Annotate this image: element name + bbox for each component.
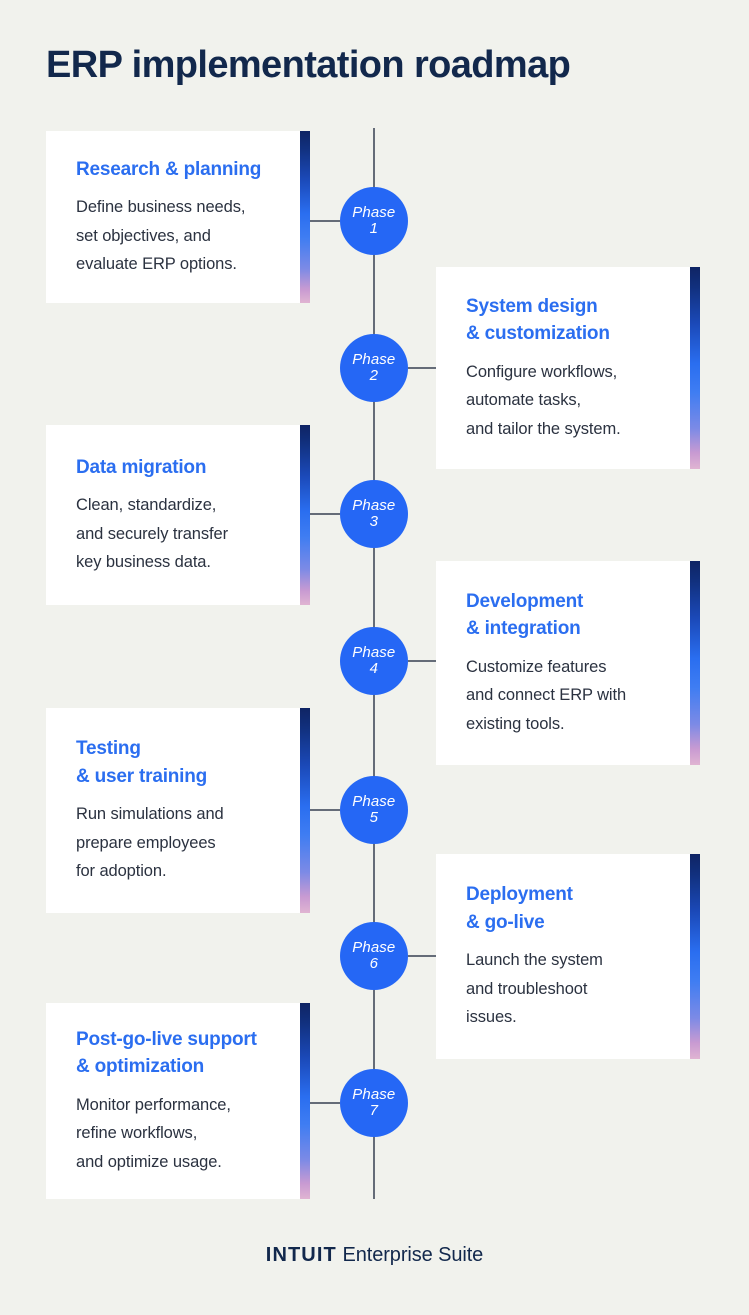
- phase-card-title: Research & planning: [76, 156, 280, 184]
- brand-wordmark: INTUIT: [266, 1244, 337, 1266]
- phase-node-number: 6: [370, 956, 378, 972]
- card-gradient-bar: [690, 854, 700, 1059]
- phase-node-3[interactable]: Phase3: [340, 480, 408, 548]
- card-gradient-bar: [300, 708, 310, 913]
- connector-line-phase-6: [408, 955, 436, 956]
- page-title: ERP implementation roadmap: [46, 44, 570, 88]
- phase-card-body: Launch the system and troubleshoot issue…: [466, 946, 670, 1031]
- phase-node-number: 3: [370, 514, 378, 530]
- connector-line-phase-1: [310, 220, 340, 221]
- phase-card-body: Monitor performance, refine workflows, a…: [76, 1091, 280, 1176]
- phase-card-title: System design & customization: [466, 293, 670, 348]
- phase-node-label: Phase: [352, 498, 395, 514]
- phase-node-6[interactable]: Phase6: [340, 922, 408, 990]
- phase-node-label: Phase: [352, 1087, 395, 1103]
- phase-node-label: Phase: [352, 940, 395, 956]
- phase-card-2[interactable]: System design & customizationConfigure w…: [436, 267, 700, 469]
- phase-node-number: 2: [370, 368, 378, 384]
- phase-node-label: Phase: [352, 205, 395, 221]
- phase-node-4[interactable]: Phase4: [340, 627, 408, 695]
- infographic-root: ERP implementation roadmap Phase1Phase2P…: [0, 0, 749, 1315]
- phase-card-body: Define business needs, set objectives, a…: [76, 193, 280, 278]
- connector-line-phase-4: [408, 660, 436, 661]
- phase-card-1[interactable]: Research & planningDefine business needs…: [46, 131, 310, 303]
- product-name: Enterprise Suite: [343, 1244, 484, 1266]
- phase-card-title: Development & integration: [466, 588, 670, 643]
- phase-card-body: Configure workflows, automate tasks, and…: [466, 358, 670, 443]
- phase-card-title: Data migration: [76, 454, 280, 482]
- card-gradient-bar: [300, 1003, 310, 1199]
- phase-card-6[interactable]: Deployment & go-liveLaunch the system an…: [436, 854, 700, 1059]
- phase-card-title: Testing & user training: [76, 735, 280, 790]
- connector-line-phase-7: [310, 1102, 340, 1103]
- phase-node-number: 7: [370, 1103, 378, 1119]
- phase-card-5[interactable]: Testing & user trainingRun simulations a…: [46, 708, 310, 913]
- phase-card-title: Post-go-live support & optimization: [76, 1026, 280, 1081]
- card-gradient-bar: [300, 425, 310, 605]
- phase-node-number: 1: [370, 221, 378, 237]
- phase-node-1[interactable]: Phase1: [340, 187, 408, 255]
- phase-node-number: 5: [370, 810, 378, 826]
- card-gradient-bar: [690, 561, 700, 765]
- phase-card-body: Customize features and connect ERP with …: [466, 653, 670, 738]
- phase-node-label: Phase: [352, 352, 395, 368]
- phase-card-3[interactable]: Data migrationClean, standardize, and se…: [46, 425, 310, 605]
- phase-node-number: 4: [370, 661, 378, 677]
- phase-node-7[interactable]: Phase7: [340, 1069, 408, 1137]
- card-gradient-bar: [300, 131, 310, 303]
- connector-line-phase-2: [408, 367, 436, 368]
- card-gradient-bar: [690, 267, 700, 469]
- phase-card-4[interactable]: Development & integrationCustomize featu…: [436, 561, 700, 765]
- connector-line-phase-5: [310, 809, 340, 810]
- phase-card-7[interactable]: Post-go-live support & optimizationMonit…: [46, 1003, 310, 1199]
- phase-node-5[interactable]: Phase5: [340, 776, 408, 844]
- phase-node-label: Phase: [352, 794, 395, 810]
- phase-card-title: Deployment & go-live: [466, 881, 670, 936]
- connector-line-phase-3: [310, 513, 340, 514]
- phase-node-label: Phase: [352, 645, 395, 661]
- phase-node-2[interactable]: Phase2: [340, 334, 408, 402]
- footer-logo: INTUIT Enterprise Suite: [0, 1244, 749, 1267]
- phase-card-body: Clean, standardize, and securely transfe…: [76, 491, 280, 576]
- phase-card-body: Run simulations and prepare employees fo…: [76, 800, 280, 885]
